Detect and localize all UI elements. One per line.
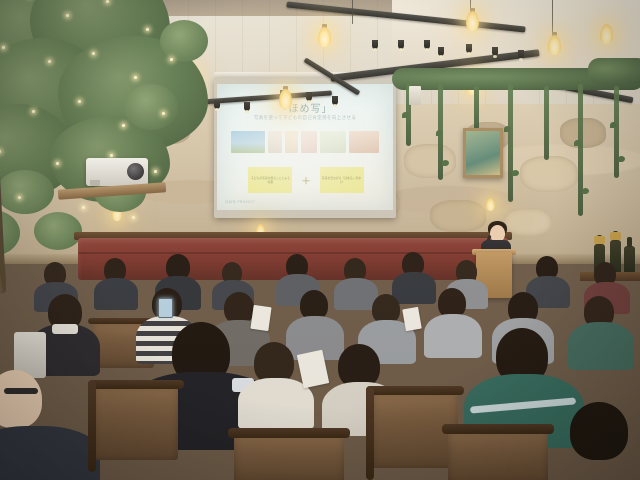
framed-painting xyxy=(463,128,503,178)
ivy-garland xyxy=(392,60,640,260)
smartphone-screen xyxy=(158,298,173,318)
chair-back xyxy=(234,434,344,480)
audience-front-rows xyxy=(0,330,640,480)
chair-frame xyxy=(366,386,374,480)
slide-photo-row xyxy=(231,128,381,155)
bottle-foil xyxy=(594,236,605,244)
slide-photo-child-portrait xyxy=(285,131,298,153)
seminar-photo-scene: 「ほめ写」 写真を使って子どもの自己肯定感を向上させる 子どもの写真を飾ることに… xyxy=(0,0,640,480)
slide-box-right: 写真を見ながら「ほめる」声かけ xyxy=(320,167,364,193)
pendant-bulb xyxy=(600,24,613,44)
attendee-shoulders xyxy=(0,426,100,480)
chair-back xyxy=(448,430,548,480)
slide-concept-boxes: 子どもの写真を飾ることによる効果 ＋ 写真を見ながら「ほめる」声かけ xyxy=(239,166,373,194)
wall-speaker xyxy=(409,86,421,105)
slide-photo-soccer xyxy=(231,131,265,153)
pendant-bulb xyxy=(466,11,479,31)
chair-frame xyxy=(88,380,96,472)
eyeglasses-icon xyxy=(4,388,38,394)
handout-paper xyxy=(402,307,422,331)
slide-box-left: 子どもの写真を飾ることによる効果 xyxy=(248,167,292,193)
slide-photo-child-running xyxy=(268,131,282,153)
pendant-bulb xyxy=(548,35,561,55)
attendee-head xyxy=(0,370,42,428)
chair-frame xyxy=(228,428,350,438)
chair-frame xyxy=(442,424,554,434)
slide-photo-family-hug xyxy=(349,131,379,153)
projector-lens xyxy=(127,163,144,180)
chair-frame xyxy=(88,380,184,389)
handout-paper xyxy=(297,350,330,389)
chair-frame xyxy=(366,386,464,395)
chair-back xyxy=(94,386,178,460)
slide-plus-symbol: ＋ xyxy=(301,174,310,187)
handout-paper xyxy=(250,305,271,331)
pendant-bulb xyxy=(279,89,292,109)
slide-photo-girl xyxy=(301,131,317,153)
pendant-bulb xyxy=(318,27,331,47)
bottle-foil xyxy=(610,232,621,240)
attendee-head xyxy=(570,402,628,460)
slide-photo-framed-photos xyxy=(320,131,346,153)
slide-logo: ほめ写 PROJECT xyxy=(225,199,255,204)
ceiling-projector xyxy=(86,158,148,186)
projector-foot xyxy=(90,180,100,186)
painting-canvas xyxy=(466,131,500,175)
